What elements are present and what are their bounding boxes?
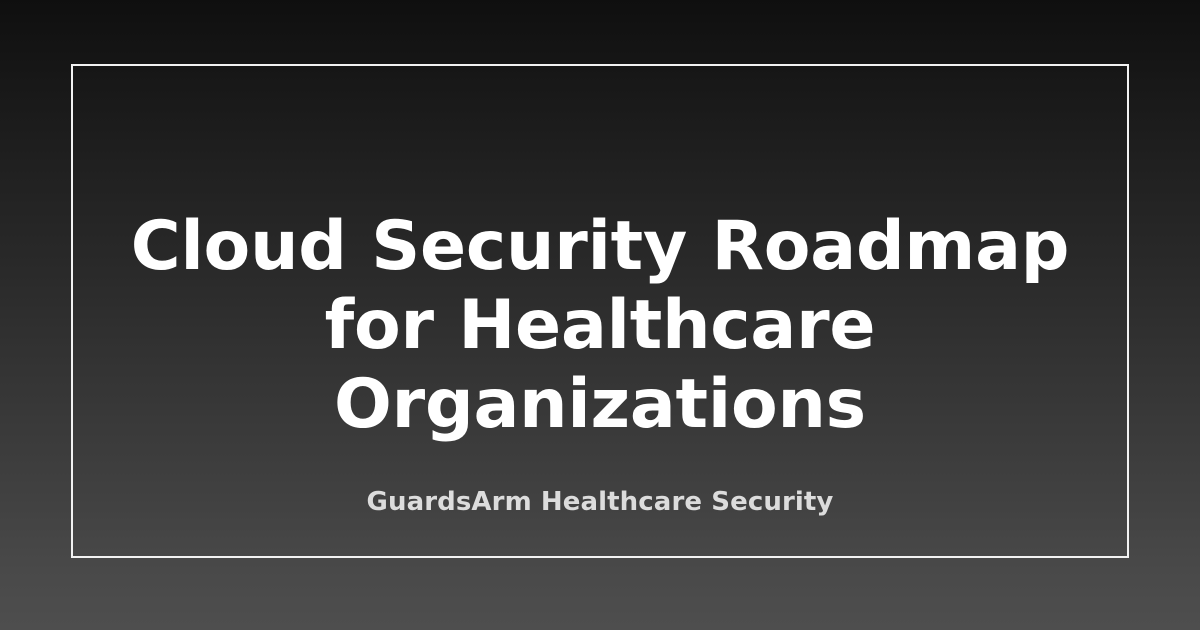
title-slide: Cloud Security Roadmap for Healthcare Or…	[0, 0, 1200, 630]
page-title: Cloud Security Roadmap for Healthcare Or…	[109, 208, 1091, 445]
slide-border-frame: Cloud Security Roadmap for Healthcare Or…	[71, 64, 1129, 558]
organization-subtitle: GuardsArm Healthcare Security	[109, 487, 1091, 518]
subtitle-block: GuardsArm Healthcare Security	[73, 487, 1127, 518]
title-block: Cloud Security Roadmap for Healthcare Or…	[73, 208, 1127, 445]
